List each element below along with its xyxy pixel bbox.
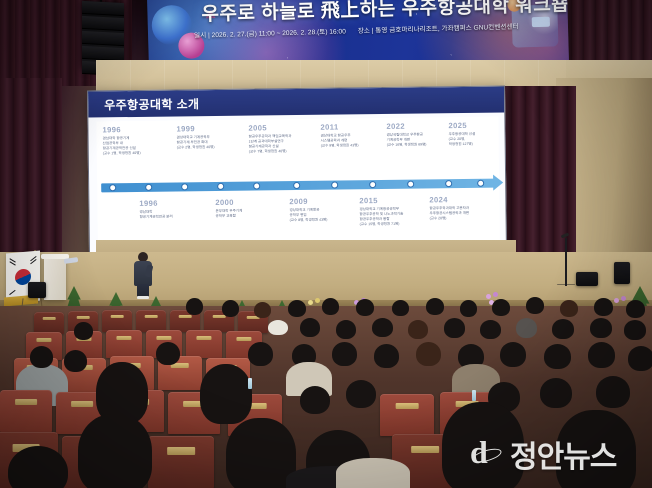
audience-head bbox=[460, 300, 477, 317]
audience-head bbox=[408, 320, 428, 339]
audience-head-long-hair bbox=[78, 414, 152, 488]
timeline-year: 2015 bbox=[359, 195, 425, 205]
audience-head bbox=[346, 380, 376, 408]
trigram-mark bbox=[9, 290, 16, 296]
timeline-item: 2025 우주항공대학 신설 (교수 20명, 학생정원 127명) bbox=[448, 121, 496, 147]
audience-head bbox=[356, 299, 374, 316]
satellite-icon bbox=[532, 17, 550, 27]
timeline-item: 2024 항공우주학과대학 고분자과 우주항공시스템공학과 개편 (교수 20명… bbox=[429, 195, 495, 221]
timeline-node bbox=[407, 181, 414, 188]
timeline-desc: 본부대학 우주기계 공학부 교육합 bbox=[215, 208, 277, 219]
timeline-desc: 경상대학교 항공우주 시스템공학과 개편 (교수 9명, 학생정원 43명) bbox=[321, 132, 383, 148]
timeline-desc: 항공우주공학과 책임교육학과 1단계 공과대학부설연구 항공기계공학과 신설 (… bbox=[249, 133, 311, 154]
audience-head-with-cap bbox=[268, 320, 288, 335]
presenter-arm bbox=[145, 264, 154, 277]
timeline-desc: 경상대학교 기계항공공학부 항공우주공학 및 나노과학기술 항공우주공학과 통합… bbox=[359, 206, 425, 227]
timeline-node bbox=[331, 181, 338, 188]
seat bbox=[34, 312, 64, 334]
timeline-item: 2022 경상국립대학교 우주항공 기계공학부 개편 (교수 16명, 학생정원… bbox=[386, 121, 448, 147]
timeline-desc: 항공우주학과대학 고분자과 우주항공시스템공학과 개편 (교수 20명) bbox=[429, 205, 495, 221]
banner-triangle-graphic bbox=[205, 10, 215, 18]
banner-planet-graphic bbox=[178, 32, 205, 59]
timeline-item: 1996 경남대학 항공기계공학전공 분리 bbox=[139, 198, 201, 219]
water-bottle bbox=[472, 390, 476, 401]
timeline-desc: 경상대학교 기계항공 공학부 편입 (교수 8명, 학생정원 43명) bbox=[289, 207, 351, 223]
audience-head bbox=[300, 318, 320, 337]
audience-head bbox=[500, 342, 526, 367]
seat bbox=[136, 310, 166, 332]
audience-head bbox=[624, 320, 646, 340]
timeline-node bbox=[477, 180, 484, 187]
timeline-desc: 경상국립대학교 우주항공 기계공학부 개편 (교수 16명, 학생정원 69명) bbox=[387, 132, 449, 148]
microphone-stand bbox=[565, 238, 567, 286]
audience-head bbox=[628, 346, 652, 371]
stage-monitor-speaker bbox=[28, 282, 46, 298]
audience-head bbox=[300, 386, 330, 414]
timeline-item: 2005 항공우주공학과 책임교육학과 1단계 공과대학부설연구 항공기계공학과… bbox=[248, 123, 310, 155]
audience-head bbox=[590, 318, 612, 338]
banner-date: 일시 | 2026. 2. 27.(금) 11:00 ~ 2026. 2. 28… bbox=[194, 25, 346, 39]
audience-head bbox=[552, 319, 574, 339]
slide-timeline: 1996 경남대학 항공기계 산업공학부 내 항공기계공학전공 신설 (교수 1… bbox=[96, 117, 500, 252]
seat bbox=[0, 390, 52, 432]
audience-head bbox=[222, 300, 239, 317]
timeline-year: 2009 bbox=[289, 196, 351, 206]
timeline-item: 1996 경남대학 항공기계 산업공학부 내 항공기계공학전공 신설 (교수 1… bbox=[102, 125, 164, 157]
audience-head bbox=[626, 300, 645, 318]
seat bbox=[380, 394, 434, 436]
audience-head bbox=[596, 376, 630, 408]
presenter-figure bbox=[131, 252, 155, 298]
seat bbox=[148, 436, 214, 488]
timeline-item: 2011 경상대학교 항공우주 시스템공학과 개편 (교수 9명, 학생정원 4… bbox=[320, 122, 382, 148]
audience-head bbox=[526, 297, 544, 314]
seat bbox=[186, 330, 222, 358]
audience-head bbox=[588, 342, 615, 368]
timeline-year: 2011 bbox=[320, 122, 382, 132]
news-watermark: d 정안뉴스 bbox=[470, 432, 616, 476]
audience-person bbox=[336, 458, 410, 488]
audience-head bbox=[322, 298, 339, 315]
watermark-text: 정안뉴스 bbox=[510, 432, 616, 476]
banner-title: 우주로 하늘로 飛上하는 우주항공대학 워크숍 bbox=[201, 0, 532, 26]
timeline-node bbox=[445, 180, 452, 187]
timeline-node bbox=[217, 183, 224, 190]
slide-title: 우주항공대학 소개 bbox=[104, 95, 199, 113]
timeline-year: 2025 bbox=[448, 121, 496, 131]
watermark-logo-icon: d bbox=[470, 437, 504, 471]
audience-head bbox=[426, 298, 444, 315]
audience-head bbox=[288, 300, 306, 317]
auditorium-photo: 우주로 하늘로 飛上하는 우주항공대학 워크숍 일시 | 2026. 2. 27… bbox=[0, 0, 652, 488]
timeline-year: 1996 bbox=[102, 125, 164, 135]
audience-head bbox=[444, 318, 465, 338]
audience-head-long-hair bbox=[200, 364, 252, 424]
timeline-desc: 경남대학 항공기계공학전공 분리 bbox=[139, 209, 201, 220]
audience-head bbox=[372, 318, 393, 337]
banner-orb-graphic bbox=[507, 0, 521, 12]
audience-head bbox=[540, 378, 572, 408]
audience-head bbox=[480, 320, 501, 339]
timeline-node bbox=[253, 182, 260, 189]
timeline-node bbox=[109, 184, 116, 191]
audience-head bbox=[254, 302, 271, 318]
stage-monitor-speaker bbox=[614, 262, 630, 284]
timeline-year: 1996 bbox=[139, 198, 201, 208]
audience-head bbox=[492, 299, 510, 316]
seat bbox=[102, 310, 132, 332]
banner-place: 장소 | 통영 금호마리나리조트, 가좌캠퍼스 GNU컨벤션센터 bbox=[358, 21, 519, 35]
audience-head bbox=[8, 446, 68, 488]
timeline-item: 2000 본부대학 우주기계 공학부 교육합 bbox=[215, 197, 277, 218]
audience-head bbox=[416, 342, 441, 366]
lectern bbox=[44, 256, 66, 300]
timeline-desc: 우주항공대학 신설 (교수 20명, 학생정원 127명) bbox=[449, 131, 497, 147]
timeline-year: 2024 bbox=[429, 195, 495, 205]
banner-nebula-graphic bbox=[151, 5, 192, 46]
timeline-desc: 경남대학 항공기계 산업공학부 내 항공기계공학전공 신설 (교수 1명, 학생… bbox=[103, 135, 165, 156]
timeline-year: 2000 bbox=[215, 197, 277, 207]
stage-monitor-speaker bbox=[576, 272, 598, 286]
timeline-node bbox=[181, 183, 188, 190]
audience-head bbox=[332, 342, 357, 366]
timeline-node bbox=[145, 184, 152, 191]
audience-head bbox=[560, 300, 578, 317]
timeline-desc: 경상대학교 기계공학부 항공기계 부전공 확대 (교수 2명, 학생정원 40명… bbox=[177, 134, 239, 150]
audience-head bbox=[374, 344, 399, 368]
timeline-node bbox=[369, 181, 376, 188]
audience-head bbox=[248, 342, 273, 366]
water-bottle bbox=[248, 378, 252, 389]
audience-head bbox=[156, 342, 180, 365]
audience-head bbox=[336, 320, 356, 339]
timeline-item: 2015 경상대학교 기계항공공학부 항공우주공학 및 나노과학기술 항공우주공… bbox=[359, 195, 425, 227]
audience-head bbox=[516, 318, 537, 338]
timeline-node bbox=[293, 182, 300, 189]
banner-subtitle-row: 일시 | 2026. 2. 27.(금) 11:00 ~ 2026. 2. 28… bbox=[194, 20, 538, 40]
audience-head bbox=[594, 298, 613, 316]
timeline-year: 1999 bbox=[176, 124, 238, 134]
audience-head bbox=[74, 322, 93, 340]
timeline-year: 2005 bbox=[248, 123, 310, 133]
audience-head bbox=[186, 298, 203, 315]
audience-head bbox=[30, 346, 53, 368]
timeline-arrow-icon bbox=[493, 174, 503, 190]
projection-screen: 우주항공대학 소개 1996 경남대학 항공기계 산업공학부 내 항공기계공학전… bbox=[87, 85, 507, 255]
banner-space-graphic bbox=[511, 4, 558, 47]
timeline-item: 2009 경상대학교 기계항공 공학부 편입 (교수 8명, 학생정원 43명) bbox=[289, 196, 351, 222]
timeline-item: 1999 경상대학교 기계공학부 항공기계 부전공 확대 (교수 2명, 학생정… bbox=[176, 124, 238, 150]
audience-head bbox=[544, 344, 571, 369]
audience-head bbox=[392, 300, 409, 316]
audience-head bbox=[64, 350, 87, 372]
seat bbox=[106, 330, 142, 358]
timeline-year: 2022 bbox=[386, 121, 448, 131]
